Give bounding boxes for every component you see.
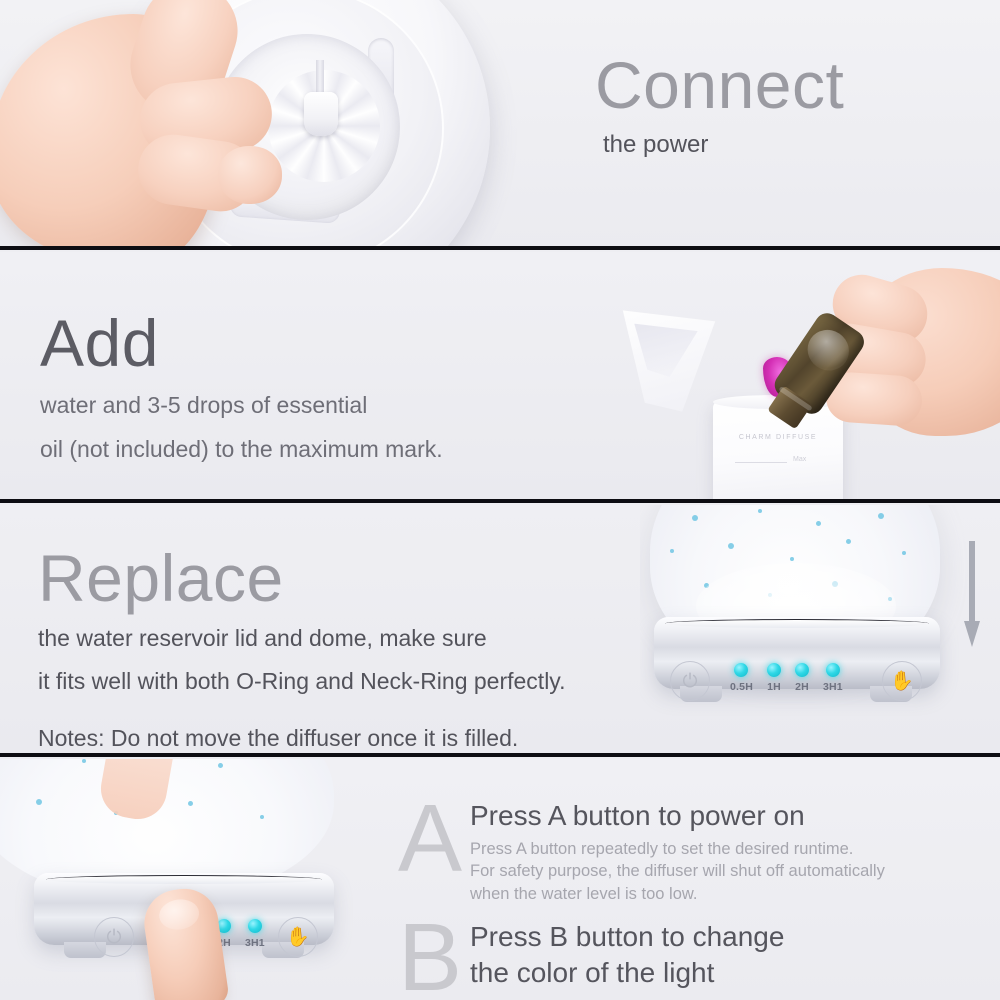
timer-label-3: 3H1 <box>823 681 843 693</box>
connect-text-block: Connect the power <box>595 52 844 160</box>
connect-heading: Connect <box>595 52 844 118</box>
tank-brand-label: CHARM DIFFUSE <box>713 434 843 441</box>
section-divider-1 <box>0 246 1000 250</box>
instruction-a-detail-3: when the water level is too low. <box>470 883 885 905</box>
instruction-a-detail-2: For safety purpose, the diffuser will sh… <box>470 860 885 882</box>
instruction-row-b: B Press B button to change the color of … <box>398 914 784 1000</box>
power-button-a[interactable]: ⏻ <box>94 917 134 957</box>
replace-note: Notes: Do not move the diffuser once it … <box>38 723 566 754</box>
instruction-a-heading: Press A button to power on <box>470 799 885 833</box>
power-icon: ⏻ <box>106 928 121 947</box>
timer-led-0[interactable]: 0.5H <box>730 663 753 693</box>
section-divider-3 <box>0 753 1000 757</box>
replace-body-line-2: it fits well with both O-Ring and Neck-R… <box>38 666 566 697</box>
add-text-block: Add water and 3-5 drops of essential oil… <box>40 310 443 465</box>
replace-body-line-1: the water reservoir lid and dome, make s… <box>38 623 566 654</box>
section-connect: Connect the power <box>0 0 1000 248</box>
timer-led-1[interactable]: 1H <box>767 663 781 693</box>
connect-photo <box>0 0 560 248</box>
control-panel: ⏻ 0.5H 1H 2H <box>654 663 940 703</box>
buttons-photo: ⏻ 0.5H 1H 2H <box>0 759 390 1000</box>
downward-arrow-icon <box>964 541 980 651</box>
hand-holding-nozzle <box>0 0 320 248</box>
product-instruction-infographic: Connect the power Add water and 3-5 drop… <box>0 0 1000 1000</box>
light-button-b[interactable]: ✋ <box>278 917 318 957</box>
add-heading: Add <box>40 310 443 376</box>
section-replace: Replace the water reservoir lid and dome… <box>0 505 1000 755</box>
hand-light-icon: ✋ <box>890 672 914 691</box>
instruction-row-a: A Press A button to power on Press A but… <box>398 795 885 905</box>
timer-label-3: 3H1 <box>245 937 265 949</box>
replace-heading: Replace <box>38 545 566 611</box>
timer-label-1: 1H <box>767 681 781 693</box>
power-button[interactable]: ⏻ <box>670 661 710 701</box>
timer-led-3[interactable]: 3H1 <box>245 919 265 949</box>
measuring-cup <box>614 306 724 416</box>
instruction-a-detail-1: Press A button repeatedly to set the des… <box>470 838 885 860</box>
add-photo: CHARM DIFFUSE Max <box>500 252 1000 501</box>
replace-text-block: Replace the water reservoir lid and dome… <box>38 545 566 753</box>
add-body-line-1: water and 3-5 drops of essential <box>40 390 443 420</box>
replace-photo: ⏻ 0.5H 1H 2H <box>640 505 1000 755</box>
tank-max-label: Max <box>793 456 806 463</box>
diffuser-base: ⏻ 0.5H 1H 2H <box>654 617 940 689</box>
timer-label-2: 2H <box>795 681 809 693</box>
timer-label-0: 0.5H <box>730 681 753 693</box>
power-icon: ⏻ <box>682 672 697 691</box>
letter-b-glyph: B <box>398 914 470 1000</box>
section-add: Add water and 3-5 drops of essential oil… <box>0 252 1000 501</box>
add-body-line-2: oil (not included) to the maximum mark. <box>40 434 443 464</box>
timer-led-2[interactable]: 2H <box>795 663 809 693</box>
letter-a-glyph: A <box>398 795 470 883</box>
hand-light-icon: ✋ <box>286 928 310 947</box>
timer-led-group: 0.5H 1H 2H 3H1 <box>730 663 843 693</box>
section-buttons: ⏻ 0.5H 1H 2H <box>0 759 1000 1000</box>
section-divider-2 <box>0 499 1000 503</box>
timer-led-3[interactable]: 3H1 <box>823 663 843 693</box>
light-button[interactable]: ✋ <box>882 661 922 701</box>
instruction-b-heading-2: the color of the light <box>470 956 784 990</box>
instruction-b-heading-1: Press B button to change <box>470 920 784 954</box>
connect-subheading: the power <box>603 130 844 160</box>
